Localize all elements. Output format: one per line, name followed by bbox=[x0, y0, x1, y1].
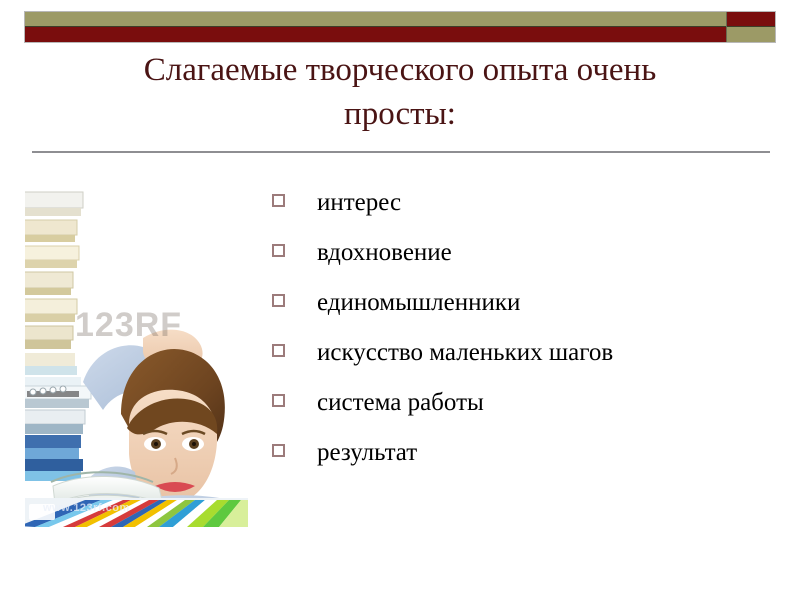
slide-title: Слагаемые творческого опыта очень просты… bbox=[40, 48, 760, 136]
slide-title-line-2: просты: bbox=[40, 92, 760, 136]
list-item: единомышленники bbox=[272, 288, 772, 338]
list-item-label: вдохновение bbox=[317, 238, 452, 268]
list-item: результат bbox=[272, 438, 772, 488]
list-item-label: искусство маленьких шагов bbox=[317, 338, 613, 368]
list-item-label: единомышленники bbox=[317, 288, 520, 318]
square-bullet-icon bbox=[272, 344, 285, 357]
boy-with-books-photo: 123RF www.123rf.com bbox=[25, 186, 248, 527]
banner-maroon-bar bbox=[25, 27, 726, 42]
list-item: вдохновение bbox=[272, 238, 772, 288]
bullet-list: интерес вдохновение единомышленники иску… bbox=[272, 188, 772, 488]
square-bullet-icon bbox=[272, 444, 285, 457]
list-item: искусство маленьких шагов bbox=[272, 338, 772, 388]
square-bullet-icon bbox=[272, 194, 285, 207]
banner-maroon-square bbox=[727, 12, 775, 27]
decorative-top-banner bbox=[24, 11, 776, 43]
banner-end-squares bbox=[726, 12, 775, 42]
slide-title-line-1: Слагаемые творческого опыта очень bbox=[40, 48, 760, 92]
list-item-label: интерес bbox=[317, 188, 401, 218]
photo-illustration bbox=[25, 186, 248, 527]
list-item-label: результат bbox=[317, 438, 417, 468]
list-item: интерес bbox=[272, 188, 772, 238]
banner-main-columns bbox=[25, 12, 726, 42]
square-bullet-icon bbox=[272, 394, 285, 407]
pencils-row bbox=[25, 498, 248, 527]
square-bullet-icon bbox=[272, 244, 285, 257]
banner-olive-square bbox=[727, 27, 775, 42]
notebook-stack bbox=[25, 386, 91, 481]
title-divider-rule bbox=[32, 151, 770, 153]
square-bullet-icon bbox=[272, 294, 285, 307]
list-item-label: система работы bbox=[317, 388, 484, 418]
banner-olive-bar bbox=[25, 12, 726, 27]
list-item: система работы bbox=[272, 388, 772, 438]
